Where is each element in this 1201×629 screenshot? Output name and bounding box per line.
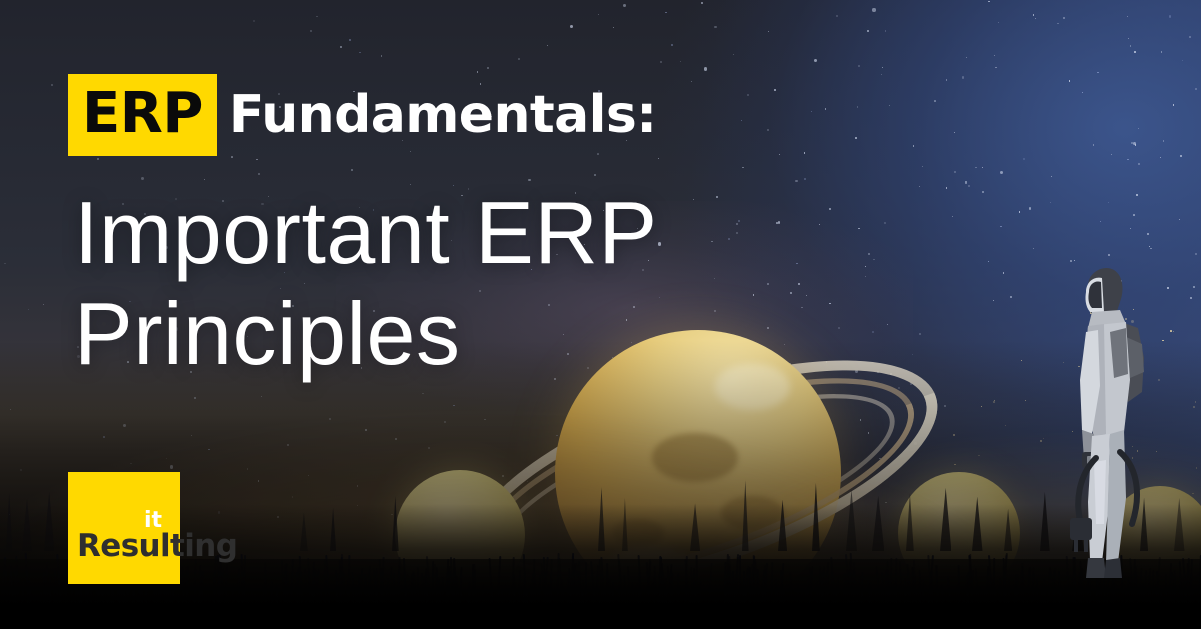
logo-resulting-text: Resulting <box>77 531 237 562</box>
ground-shadow <box>0 559 1201 629</box>
kicker-suffix: Fundamentals: <box>229 89 656 141</box>
astronaut-figure <box>1058 262 1164 592</box>
page-title: Important ERP Principles <box>74 182 658 384</box>
kicker-line: ERP Fundamentals: <box>68 74 656 156</box>
erp-badge: ERP <box>68 74 217 156</box>
it-resulting-logo[interactable]: it Resulting <box>68 472 180 584</box>
erp-fundamentals-banner: ERP Fundamentals: Important ERP Principl… <box>0 0 1201 629</box>
